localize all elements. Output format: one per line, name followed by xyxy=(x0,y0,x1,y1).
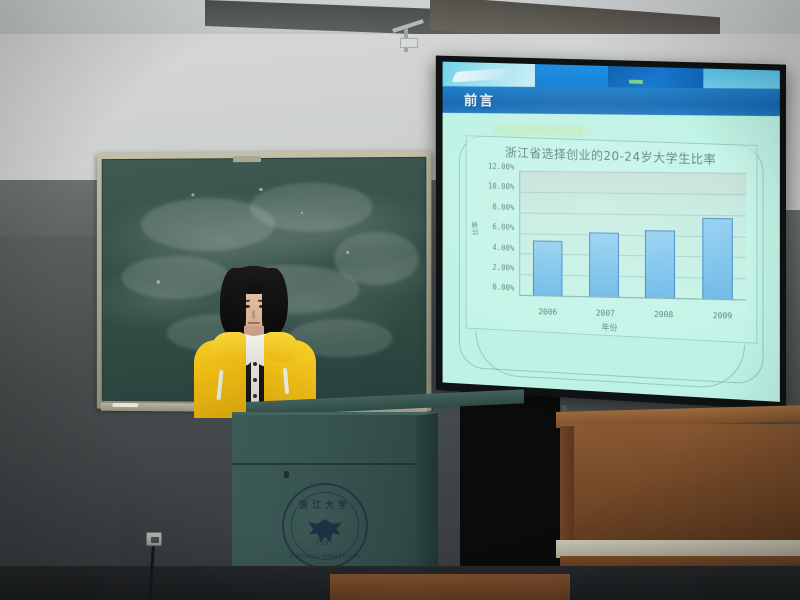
slide-body: 大学生创业的时代背景 浙江省选择创业的20-24岁大学生比率 比率 12.00%… xyxy=(443,113,780,402)
presenter-hood-left xyxy=(212,332,246,362)
podium-seam xyxy=(232,463,437,465)
chart-y-tick: 10.00% xyxy=(488,183,514,191)
presenter-hair-right xyxy=(262,268,288,334)
wooden-cabinet xyxy=(560,424,800,542)
chart-bar xyxy=(702,218,732,300)
wall-outlet-socket xyxy=(151,537,159,543)
blackboard-eraser xyxy=(233,156,261,162)
presenter-nose xyxy=(252,310,255,319)
zhejiang-university-logo: 浙江大学 1897 ZHEJIANG UNIVERSITY xyxy=(282,483,368,569)
projection-screen-surface: 前言 大学生创业的时代背景 浙江省选择创业的20-24岁大学生比率 比率 12.… xyxy=(443,62,780,402)
presenter-hair-left xyxy=(220,268,246,334)
logo-founding-year: 1897 xyxy=(284,540,366,547)
presenter-mouth xyxy=(248,322,260,324)
logo-chinese-name: 浙江大学 xyxy=(284,498,366,511)
projector-mount-box xyxy=(400,38,418,48)
presenter-button-3 xyxy=(253,394,257,398)
chart-x-tick: 2009 xyxy=(713,310,733,320)
slide-header-bar: 前言 xyxy=(443,86,780,116)
chart-bar xyxy=(589,233,619,297)
podium-keyhole xyxy=(284,471,289,478)
chart-x-tick: 2006 xyxy=(538,307,557,316)
slide-header-title: 前言 xyxy=(464,90,495,110)
presenter-hood-right xyxy=(264,332,298,362)
chart-y-tick: 0.00% xyxy=(492,284,514,292)
chart-y-tick: 2.00% xyxy=(492,264,514,272)
cabinet-side-panel xyxy=(560,426,574,542)
chart-y-tick: 12.00% xyxy=(488,163,514,171)
presenter-button-1 xyxy=(253,362,257,366)
logo-english-name: ZHEJIANG UNIVERSITY xyxy=(284,554,366,560)
projection-screen: 前言 大学生创业的时代背景 浙江省选择创业的20-24岁大学生比率 比率 12.… xyxy=(436,56,786,411)
presentation-slide: 前言 大学生创业的时代背景 浙江省选择创业的20-24岁大学生比率 比率 12.… xyxy=(443,62,780,402)
chart-plot-wrapper: 比率 12.00%10.00%8.00%6.00%4.00%2.00%0.00% xyxy=(467,164,750,306)
chart-y-axis-ticks: 12.00%10.00%8.00%6.00%4.00%2.00%0.00% xyxy=(478,164,517,294)
chart-bar xyxy=(645,231,675,299)
presenter-button-2 xyxy=(253,378,257,382)
chart-y-tick: 8.00% xyxy=(492,203,514,211)
chart-y-tick: 6.00% xyxy=(492,223,514,231)
lecture-hall-scene: 前言 大学生创业的时代背景 浙江省选择创业的20-24岁大学生比率 比率 12.… xyxy=(0,0,800,600)
chart-x-tick: 2007 xyxy=(596,308,615,317)
chart-x-tick: 2008 xyxy=(654,309,673,318)
wall-outlet xyxy=(146,532,162,546)
front-desk xyxy=(330,574,570,600)
chart-bars xyxy=(520,171,746,300)
chart-container: 浙江省选择创业的20-24岁大学生比率 比率 12.00%10.00%8.00%… xyxy=(466,135,758,344)
chart-bar xyxy=(533,240,562,295)
chart-plot-area xyxy=(519,171,746,301)
chalk-stick xyxy=(113,403,139,407)
presenter xyxy=(176,266,328,416)
chart-y-tick: 4.00% xyxy=(492,244,514,252)
